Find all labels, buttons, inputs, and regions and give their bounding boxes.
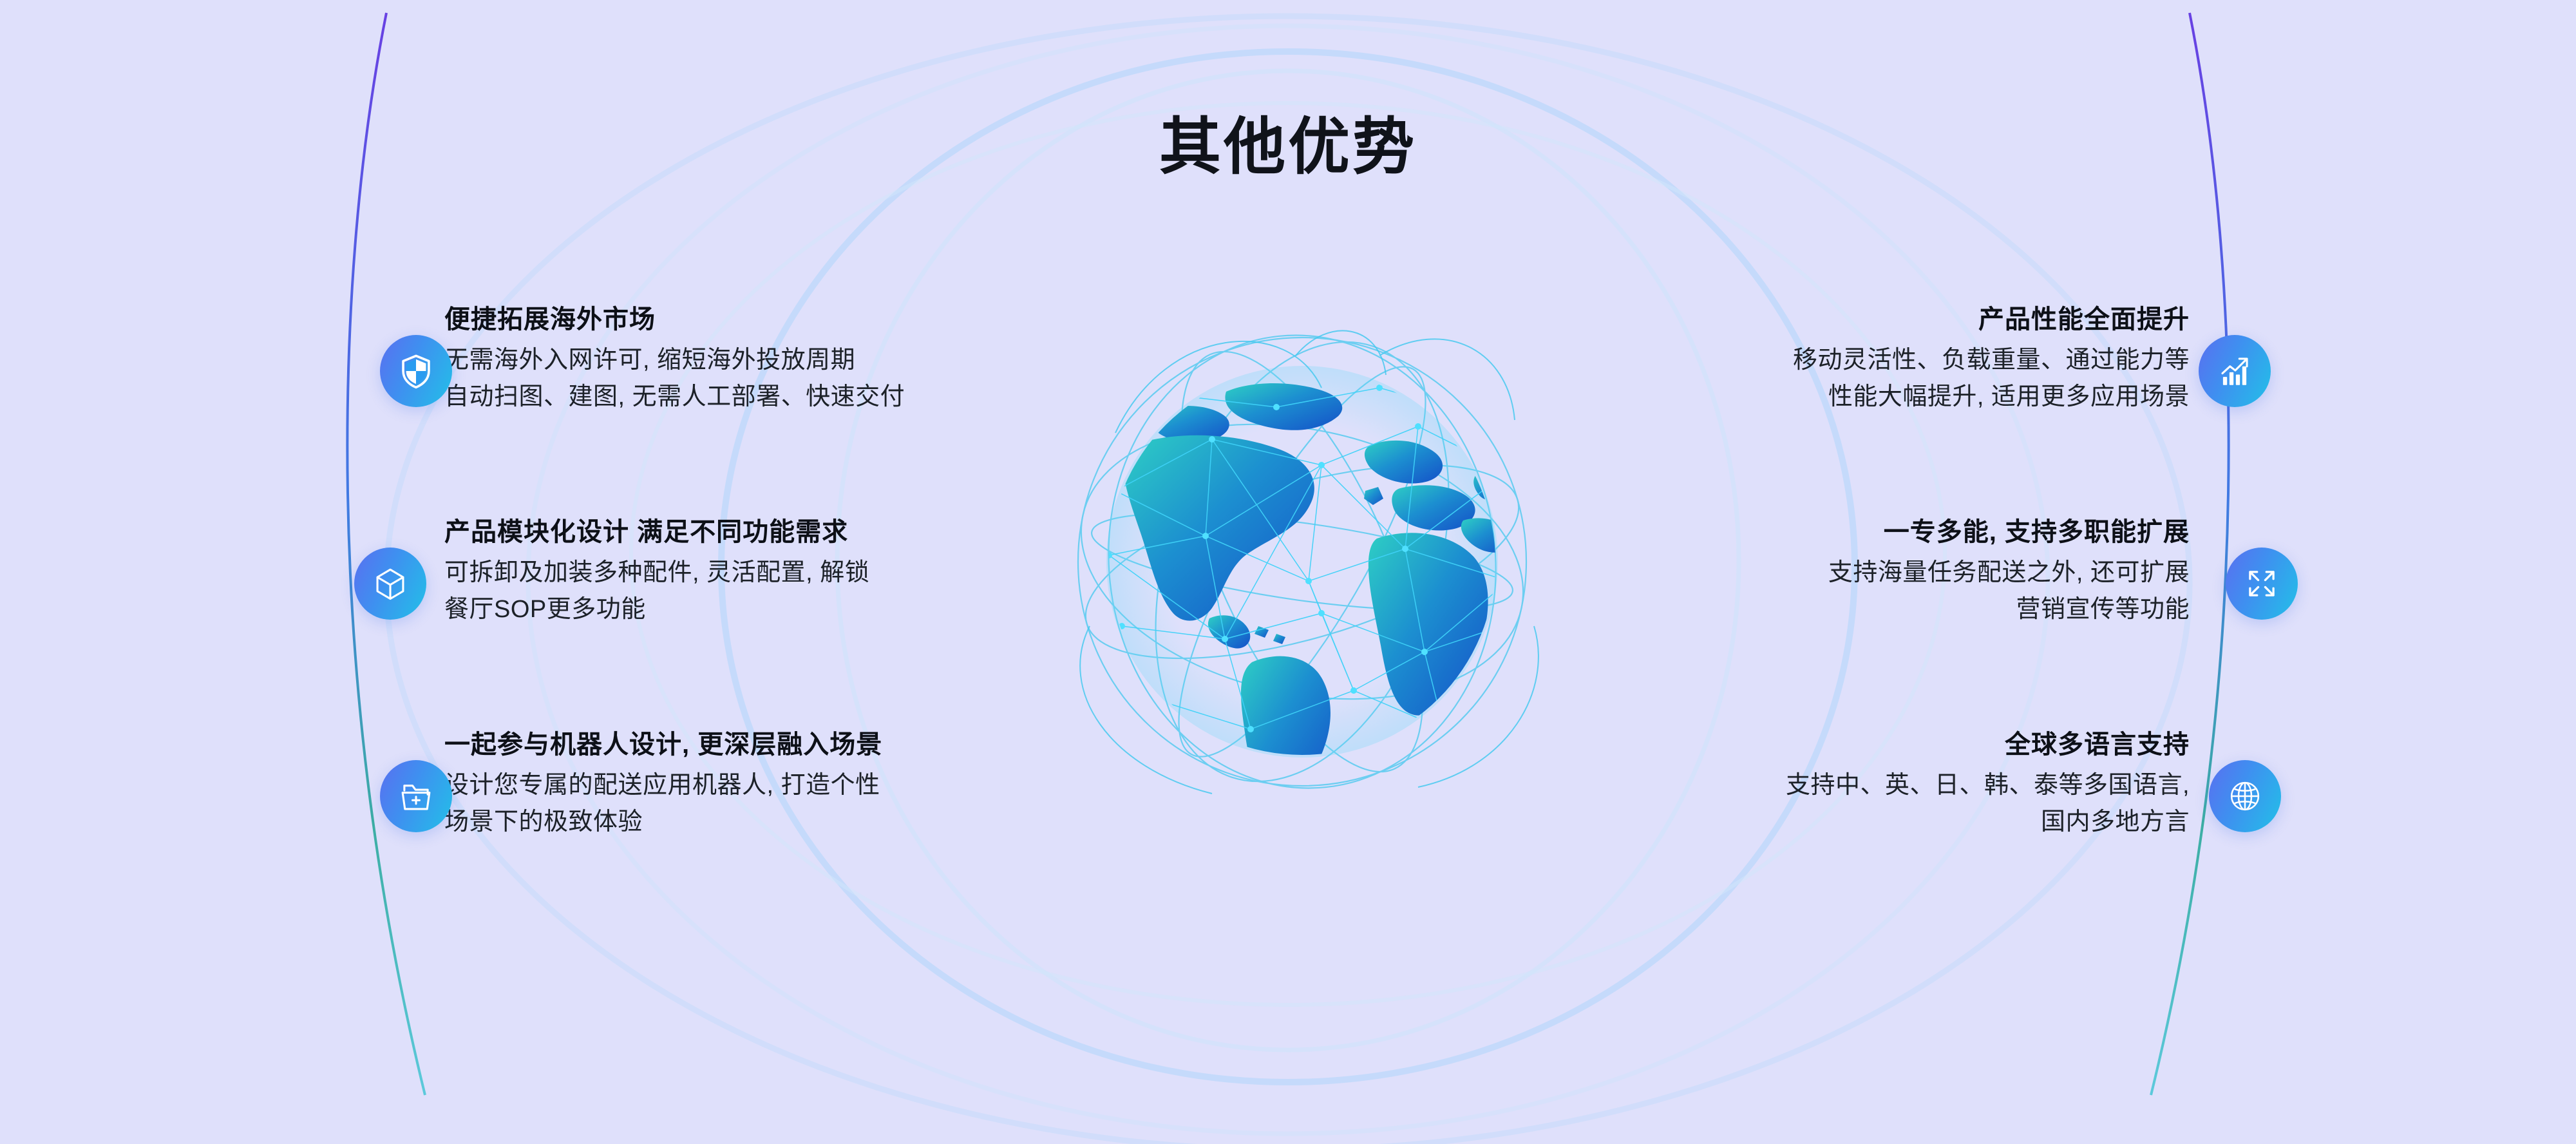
feature-title: 一起参与机器人设计, 更深层融入场景 — [444, 728, 1114, 762]
feature-line: 设计您专属的配送应用机器人, 打造个性 — [444, 767, 1114, 804]
feature-item[interactable]: 一专多能, 支持多职能扩展 支持海量任务配送之外, 还可扩展 营销宣传等功能 — [1533, 515, 2273, 728]
features-left-column: 便捷拓展海外市场 无需海外入网许可, 缩短海外投放周期 自动扫图、建图, 无需人… — [361, 303, 1101, 940]
feature-item[interactable]: 产品性能全面提升 移动灵活性、负载重量、通过能力等 性能大幅提升, 适用更多应用… — [1533, 303, 2273, 515]
feature-line: 无需海外入网许可, 缩短海外投放周期 — [444, 342, 1114, 379]
features-right-column: 产品性能全面提升 移动灵活性、负载重量、通过能力等 性能大幅提升, 适用更多应用… — [1533, 303, 2273, 940]
feature-text: 一起参与机器人设计, 更深层融入场景 设计您专属的配送应用机器人, 打造个性 场… — [444, 728, 1114, 841]
feature-title: 一专多能, 支持多职能扩展 — [1520, 515, 2190, 549]
feature-text: 产品模块化设计 满足不同功能需求 可拆卸及加装多种配件, 灵活配置, 解锁 餐厅… — [444, 515, 1114, 628]
feature-line: 性能大幅提升, 适用更多应用场景 — [1520, 379, 2190, 415]
feature-text: 全球多语言支持 支持中、英、日、韩、泰等多国语言, 国内多地方言 — [1520, 728, 2190, 841]
feature-line: 国内多地方言 — [1520, 804, 2190, 841]
feature-item[interactable]: 全球多语言支持 支持中、英、日、韩、泰等多国语言, 国内多地方言 — [1533, 728, 2273, 940]
feature-text: 一专多能, 支持多职能扩展 支持海量任务配送之外, 还可扩展 营销宣传等功能 — [1520, 515, 2190, 628]
feature-line: 餐厅SOP更多功能 — [444, 591, 1114, 628]
feature-text: 产品性能全面提升 移动灵活性、负载重量、通过能力等 性能大幅提升, 适用更多应用… — [1520, 303, 2190, 415]
feature-item[interactable]: 产品模块化设计 满足不同功能需求 可拆卸及加装多种配件, 灵活配置, 解锁 餐厅… — [361, 515, 1101, 728]
feature-line: 支持中、英、日、韩、泰等多国语言, — [1520, 767, 2190, 804]
feature-item[interactable]: 便捷拓展海外市场 无需海外入网许可, 缩短海外投放周期 自动扫图、建图, 无需人… — [361, 303, 1101, 515]
feature-title: 产品模块化设计 满足不同功能需求 — [444, 515, 1114, 549]
page-title: 其他优势 — [0, 97, 2576, 186]
feature-title: 全球多语言支持 — [1520, 728, 2190, 762]
feature-line: 移动灵活性、负载重量、通过能力等 — [1520, 342, 2190, 379]
feature-item[interactable]: 一起参与机器人设计, 更深层融入场景 设计您专属的配送应用机器人, 打造个性 场… — [361, 728, 1101, 940]
cube-icon — [354, 548, 426, 620]
folder-plus-icon — [380, 760, 452, 832]
bar-chart-up-icon — [2199, 335, 2271, 407]
expand-arrows-icon — [2226, 548, 2298, 620]
feature-line: 自动扫图、建图, 无需人工部署、快速交付 — [444, 379, 1114, 415]
feature-line: 场景下的极致体验 — [444, 804, 1114, 841]
feature-line: 支持海量任务配送之外, 还可扩展 — [1520, 555, 2190, 591]
feature-title: 产品性能全面提升 — [1520, 303, 2190, 337]
feature-title: 便捷拓展海外市场 — [444, 303, 1114, 337]
feature-line: 营销宣传等功能 — [1520, 591, 2190, 628]
feature-text: 便捷拓展海外市场 无需海外入网许可, 缩短海外投放周期 自动扫图、建图, 无需人… — [444, 303, 1114, 415]
globe-grid-icon — [2209, 760, 2281, 832]
feature-line: 可拆卸及加装多种配件, 灵活配置, 解锁 — [444, 555, 1114, 591]
shield-icon — [380, 335, 452, 407]
